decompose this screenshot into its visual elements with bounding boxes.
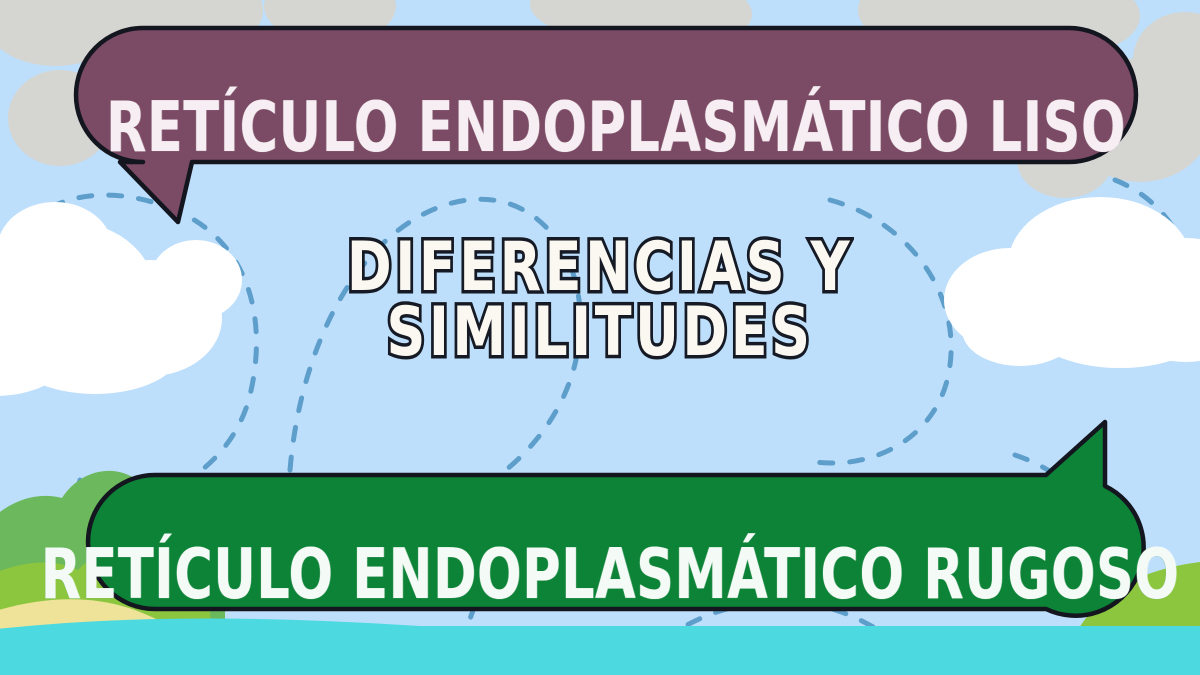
bottom-banner-label: RETÍCULO ENDOPLASMÁTICO RUGOSO	[115, 501, 1105, 646]
top-banner-label: RETÍCULO ENDOPLASMÁTICO LISO	[101, 54, 1131, 199]
slide-canvas: RETÍCULO ENDOPLASMÁTICO LISO DIFERENCIAS…	[0, 0, 1200, 675]
